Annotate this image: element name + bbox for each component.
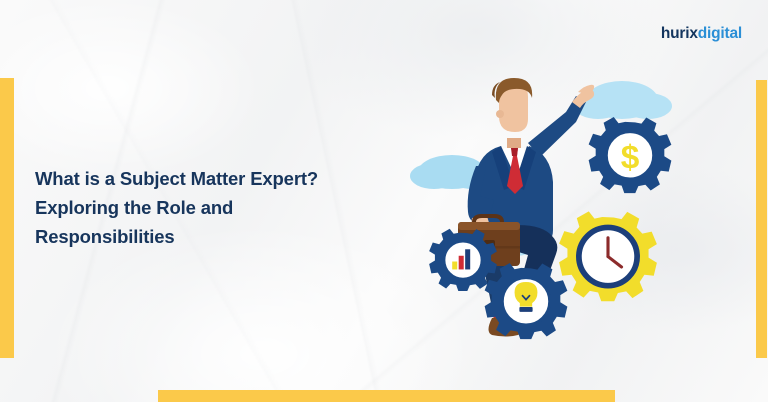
- headline-line-1: What is a Subject Matter Expert?: [35, 168, 318, 189]
- headline-emphasis-role: Role: [156, 197, 196, 218]
- hero-illustration: $: [400, 40, 768, 402]
- businessman-raised-arm: [528, 85, 594, 157]
- page-title: What is a Subject Matter Expert? Explori…: [35, 164, 365, 251]
- left-accent-bar: [0, 78, 14, 358]
- svg-text:$: $: [621, 140, 640, 177]
- gear-dollar: $: [589, 117, 672, 193]
- banner: hurixdigital What is a Subject Matter Ex…: [0, 0, 768, 402]
- headline-line-2-post: and: [196, 197, 233, 218]
- gear-clock: [559, 211, 657, 301]
- dollar-icon: $: [621, 140, 640, 177]
- businessman-head: [492, 78, 532, 152]
- headline-line-2-pre: Exploring the: [35, 197, 156, 218]
- headline-emphasis-responsibilities: Responsibilities: [35, 226, 174, 247]
